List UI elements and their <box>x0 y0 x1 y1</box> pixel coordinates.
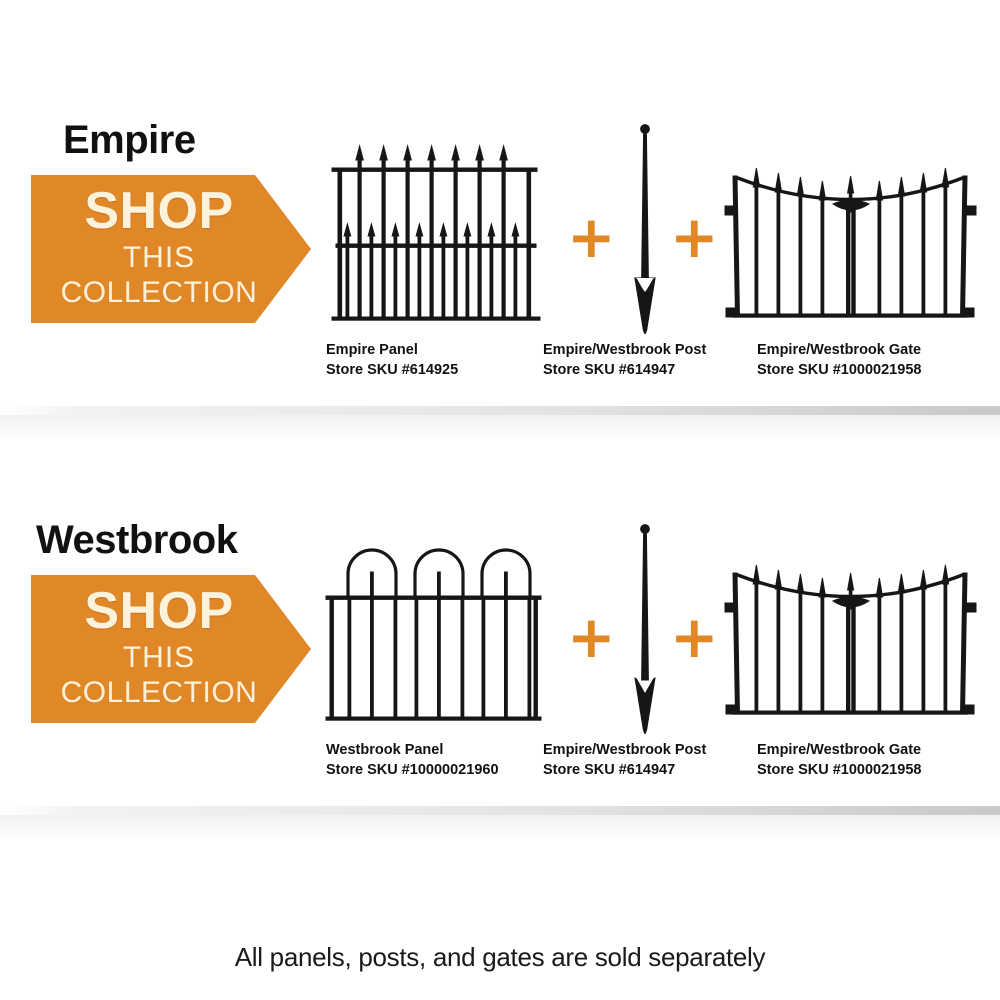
product-row-westbrook: Westbrook Panel Store SKU #10000021960 + <box>310 400 1000 800</box>
product-caption-westbrook-gate: Empire/Westbrook Gate Store SKU #1000021… <box>757 741 921 780</box>
plus-icon-3: + <box>567 608 616 666</box>
westbrook-panel-illustration <box>320 540 550 735</box>
product-caption-empire-post: Empire/Westbrook Post Store SKU #614947 <box>543 341 706 380</box>
plus-icon-4: + <box>670 608 719 666</box>
banner-collection-label: COLLECTION <box>61 676 258 711</box>
empire-panel-illustration <box>320 140 550 335</box>
product-name: Empire/Westbrook Post <box>543 741 706 761</box>
collection-section-empire: Empire SHOP THIS COLLECTION <box>0 0 1000 400</box>
product-caption-empire-panel: Empire Panel Store SKU #614925 <box>326 341 458 380</box>
product-name: Westbrook Panel <box>326 741 499 761</box>
product-sku: Store SKU #614925 <box>326 361 458 381</box>
product-name: Empire/Westbrook Gate <box>757 341 921 361</box>
product-caption-westbrook-panel: Westbrook Panel Store SKU #10000021960 <box>326 741 499 780</box>
banner-collection-label: COLLECTION <box>61 276 258 311</box>
product-sku: Store SKU #1000021958 <box>757 761 921 781</box>
collection-title-empire: Empire <box>63 118 196 163</box>
banner-shop-label: SHOP <box>84 587 233 636</box>
banner-shop-label: SHOP <box>84 187 233 236</box>
post-illustration <box>615 522 675 734</box>
gate-illustration <box>715 160 987 335</box>
shop-this-collection-banner-westbrook[interactable]: SHOP THIS COLLECTION <box>31 575 311 723</box>
collection-section-westbrook: Westbrook SHOP THIS COLLECTION <box>0 400 1000 800</box>
footnote-text: All panels, posts, and gates are sold se… <box>0 942 1000 973</box>
banner-this-label: THIS <box>123 239 195 277</box>
product-sku: Store SKU #614947 <box>543 361 706 381</box>
product-name: Empire Panel <box>326 341 458 361</box>
product-name: Empire/Westbrook Gate <box>757 741 921 761</box>
product-sku: Store SKU #614947 <box>543 761 706 781</box>
product-sku: Store SKU #1000021958 <box>757 361 921 381</box>
promo-page: Empire SHOP THIS COLLECTION <box>0 0 1000 1000</box>
product-sku: Store SKU #10000021960 <box>326 761 499 781</box>
section-divider-shadow-2 <box>0 815 1000 841</box>
product-caption-westbrook-post: Empire/Westbrook Post Store SKU #614947 <box>543 741 706 780</box>
product-caption-empire-gate: Empire/Westbrook Gate Store SKU #1000021… <box>757 341 921 380</box>
post-illustration <box>615 122 675 334</box>
collection-title-westbrook: Westbrook <box>36 518 237 563</box>
section-divider-2 <box>0 806 1000 815</box>
product-name: Empire/Westbrook Post <box>543 341 706 361</box>
product-row-empire: Empire Panel Store SKU #614925 + <box>310 0 1000 400</box>
plus-icon-2: + <box>670 208 719 266</box>
shop-this-collection-banner-empire[interactable]: SHOP THIS COLLECTION <box>31 175 311 323</box>
gate-illustration <box>715 557 987 732</box>
plus-icon-1: + <box>567 208 616 266</box>
banner-this-label: THIS <box>123 639 195 677</box>
